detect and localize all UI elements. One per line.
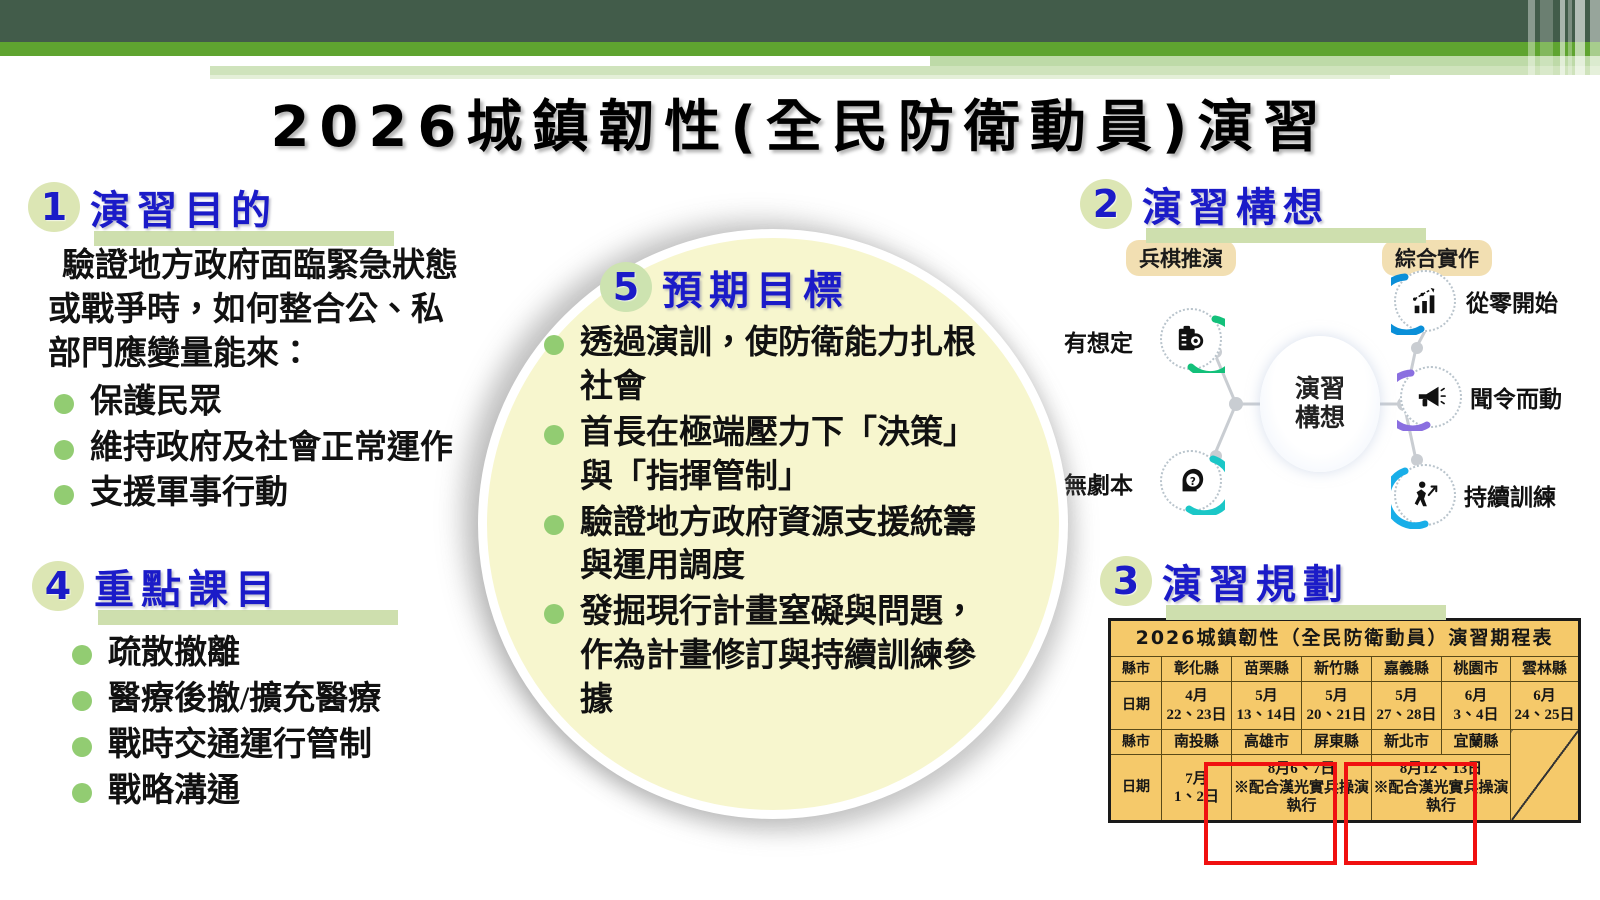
list-item: 發掘現行計畫窒礙與問題，作為計畫修訂與持續訓練參據: [538, 591, 1008, 723]
list-item: 透過演訓，使防衛能力扎根社會: [538, 322, 1008, 410]
row-header-date: 日期: [1110, 682, 1162, 730]
mindmap-center-node: 演習 構想: [1260, 336, 1380, 472]
section-3-heading: 3 演習規劃: [1100, 552, 1350, 610]
table-cell-city: 苗栗縣: [1232, 657, 1302, 682]
pill-wargame: 兵棋推演: [1126, 240, 1236, 276]
date-note: ※配合漢光實兵操演執行: [1373, 779, 1509, 816]
table-cell-city: 南投縣: [1162, 730, 1232, 755]
date-month: 7月: [1163, 770, 1230, 788]
table-cell-date-highlight: 8月6、7日 ※配合漢光實兵操演執行: [1232, 755, 1372, 822]
date-days: 1、2日: [1163, 788, 1230, 806]
section-5-title: 預期目標: [662, 258, 850, 316]
table-row-title: 2026城鎮韌性（全民防衛動員）演習期程表: [1110, 620, 1580, 657]
mindmap-label-from-zero: 從零開始: [1466, 284, 1558, 318]
mindmap-node-scenario: [1160, 308, 1222, 370]
table-cell-city: 高雄市: [1232, 730, 1302, 755]
header-stripe-2: [1540, 0, 1553, 82]
list-item: 戰時交通運行管制: [66, 724, 496, 768]
table-cell-city: 新竹縣: [1302, 657, 1372, 682]
table-cell-date: 5月 20、21日: [1302, 682, 1372, 730]
mindmap-label-act-on-order: 聞令而動: [1470, 380, 1562, 414]
mindmap-node-no-script: ?: [1160, 450, 1222, 512]
table-row: 縣市 南投縣 高雄市 屏東縣 新北市 宜蘭縣: [1110, 730, 1580, 755]
table-cell-date: 7月 1、2日: [1162, 755, 1232, 822]
mindmap-label-no-script: 無劇本: [1064, 466, 1133, 500]
header-stripe-4: [1568, 0, 1572, 82]
table-cell-city: 新北市: [1372, 730, 1442, 755]
date-month: 4月: [1163, 687, 1230, 705]
section-1-number-badge: 1: [28, 182, 80, 232]
date-days: 3、4日: [1443, 706, 1509, 724]
section-2-heading: 2 演習構想: [1080, 175, 1330, 233]
section-1-title: 演習目的: [90, 178, 278, 236]
row-header-date: 日期: [1110, 755, 1162, 822]
list-item: 維持政府及社會正常運作: [48, 427, 468, 471]
section-1-body: 驗證地方政府面臨緊急狀態或戰爭時，如何整合公、私部門應變量能來： 保護民眾 維持…: [48, 245, 468, 518]
table-cell-date: 5月 27、28日: [1372, 682, 1442, 730]
date-days: 13、14日: [1233, 706, 1300, 724]
list-item: 保護民眾: [48, 381, 468, 425]
header-band-pale-4: [210, 75, 1390, 79]
section-4-title: 重點課目: [94, 557, 282, 615]
node-arc-cyan: [1391, 461, 1459, 529]
mindmap-label-continuous-training: 持續訓練: [1464, 478, 1556, 512]
section-5-body: 透過演訓，使防衛能力扎根社會 首長在極端壓力下「決策」與「指揮管制」 驗證地方政…: [538, 322, 1008, 725]
node-arc-green: [1157, 305, 1225, 373]
mindmap-node-continuous-training: [1394, 464, 1456, 526]
section-4-body: 疏散撤離 醫療後撤/擴充醫療 戰時交通運行管制 戰略溝通: [66, 632, 496, 816]
header-band-notch: [0, 56, 930, 66]
table-cell-city: 彰化縣: [1162, 657, 1232, 682]
table-cell-date: 6月 24、25日: [1511, 682, 1580, 730]
date-month: 6月: [1512, 687, 1577, 705]
section-1-intro-text: 驗證地方政府面臨緊急狀態或戰爭時，如何整合公、私部門應變量能來：: [48, 245, 468, 377]
exercise-concept-mindmap: 兵棋推演 綜合實作 演習 構想 有想定: [1064, 228, 1588, 528]
date-month: 5月: [1303, 687, 1370, 705]
section-4-heading: 4 重點課目: [32, 557, 282, 615]
table-title: 2026城鎮韌性（全民防衛動員）演習期程表: [1110, 620, 1580, 657]
section-1-heading: 1 演習目的: [28, 178, 278, 236]
mindmap-node-act-on-order: [1400, 366, 1462, 428]
table-cell-city: 雲林縣: [1511, 657, 1580, 682]
list-item: 驗證地方政府資源支援統籌與運用調度: [538, 502, 1008, 590]
row-header-city: 縣市: [1110, 730, 1162, 755]
table-row: 日期 4月 22、23日 5月 13、14日 5月 20、21日 5月 27、2…: [1110, 682, 1580, 730]
date-days: 24、25日: [1512, 706, 1577, 724]
section-3-title: 演習規劃: [1162, 552, 1350, 610]
date-days: 20、21日: [1303, 706, 1370, 724]
section-5-heading: 5 預期目標: [600, 258, 850, 316]
section-5-number-badge: 5: [600, 262, 652, 312]
header-stripe-5: [1575, 0, 1585, 82]
section-4-number-badge: 4: [32, 561, 84, 611]
date-month: 5月: [1373, 687, 1440, 705]
list-item: 疏散撤離: [66, 632, 496, 676]
date-month: 5月: [1233, 687, 1300, 705]
list-item: 支援軍事行動: [48, 472, 468, 516]
row-header-city: 縣市: [1110, 657, 1162, 682]
header-stripe-3: [1560, 0, 1565, 82]
date-note: ※配合漢光實兵操演執行: [1233, 779, 1370, 816]
mindmap-node-from-zero: [1394, 270, 1456, 332]
table-cell-date: 6月 3、4日: [1442, 682, 1511, 730]
node-arc-teal: [1157, 447, 1225, 515]
date-month: 6月: [1443, 687, 1509, 705]
table-row: 縣市 彰化縣 苗栗縣 新竹縣 嘉義縣 桃園市 雲林縣: [1110, 657, 1580, 682]
page-title: 2026城鎮韌性(全民防衛動員)演習: [0, 82, 1600, 163]
date-main: 8月12、13日: [1373, 760, 1509, 778]
table-row: 日期 7月 1、2日 8月6、7日 ※配合漢光實兵操演執行 8月12、13日 ※…: [1110, 755, 1580, 822]
node-arc-blue: [1391, 267, 1459, 335]
header-stripe-6: [1590, 0, 1600, 82]
table-cell-empty-diagonal: [1511, 730, 1580, 822]
date-days: 22、23日: [1163, 706, 1230, 724]
header-band-white-left: [0, 66, 210, 75]
date-main: 8月6、7日: [1233, 760, 1370, 778]
list-item: 首長在極端壓力下「決策」與「指揮管制」: [538, 412, 1008, 500]
table-cell-city: 桃園市: [1442, 657, 1511, 682]
section-2-title: 演習構想: [1142, 175, 1330, 233]
date-days: 27、28日: [1373, 706, 1440, 724]
table-cell-date: 4月 22、23日: [1162, 682, 1232, 730]
exercise-schedule-table: 2026城鎮韌性（全民防衛動員）演習期程表 縣市 彰化縣 苗栗縣 新竹縣 嘉義縣…: [1108, 618, 1581, 823]
header-band-bright: [0, 42, 1600, 56]
table-cell-date: 5月 13、14日: [1232, 682, 1302, 730]
list-item: 戰略溝通: [66, 770, 496, 814]
section-1-bullet-list: 保護民眾 維持政府及社會正常運作 支援軍事行動: [48, 381, 468, 517]
mindmap-center-line-2: 構想: [1295, 404, 1345, 434]
mindmap-label-scenario: 有想定: [1064, 324, 1133, 358]
slide-canvas: 2026城鎮韌性(全民防衛動員)演習 1 演習目的 驗證地方政府面臨緊急狀態或戰…: [0, 0, 1600, 900]
section-5-bullet-list: 透過演訓，使防衛能力扎根社會 首長在極端壓力下「決策」與「指揮管制」 驗證地方政…: [538, 322, 1008, 723]
section-4-bullet-list: 疏散撤離 醫療後撤/擴充醫療 戰時交通運行管制 戰略溝通: [66, 632, 496, 814]
table-cell-city: 嘉義縣: [1372, 657, 1442, 682]
table-cell-date-highlight: 8月12、13日 ※配合漢光實兵操演執行: [1372, 755, 1511, 822]
list-item: 醫療後撤/擴充醫療: [66, 678, 496, 722]
section-2-number-badge: 2: [1080, 179, 1132, 229]
table-cell-city: 宜蘭縣: [1442, 730, 1511, 755]
header-stripe-1: [1528, 0, 1535, 82]
header-band-dark: [0, 0, 1600, 42]
section-3-number-badge: 3: [1100, 556, 1152, 606]
header-band-pale-2: [210, 66, 1600, 75]
table-cell-city: 屏東縣: [1302, 730, 1372, 755]
mindmap-center-line-1: 演習: [1295, 375, 1345, 405]
node-arc-purple: [1397, 363, 1465, 431]
